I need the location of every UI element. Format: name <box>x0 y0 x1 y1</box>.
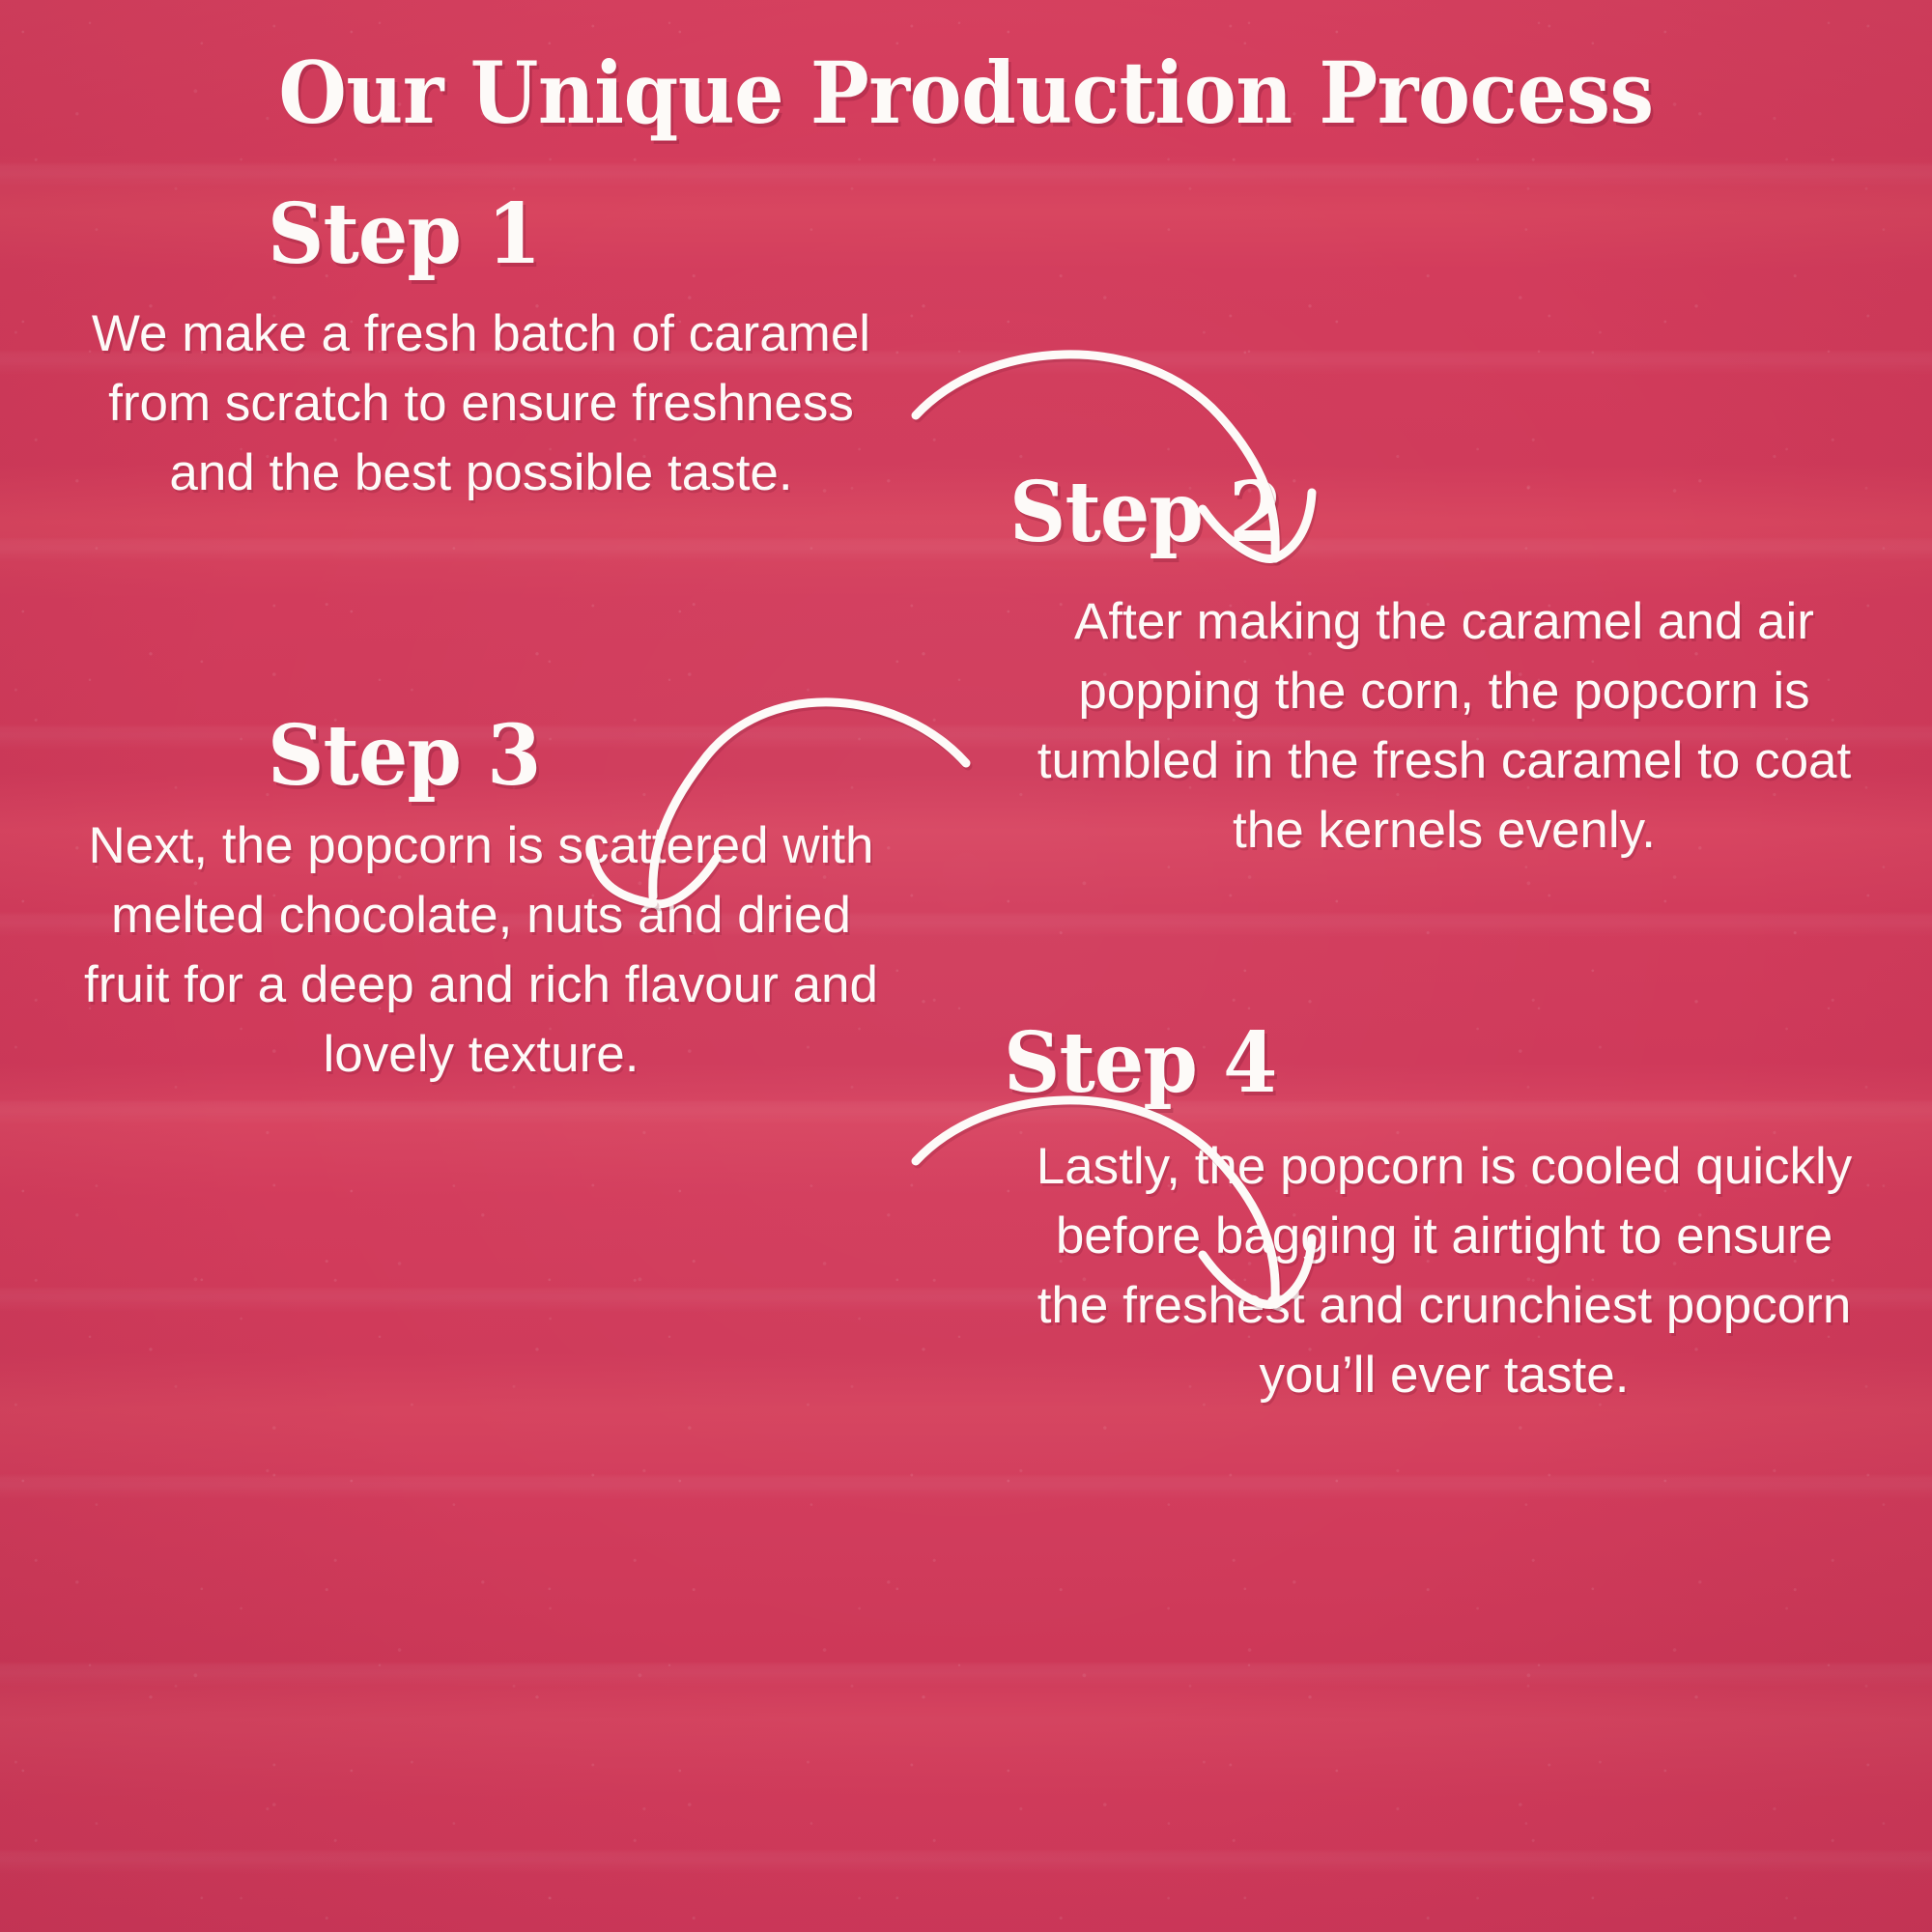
step-1-body: We make a fresh batch of caramel from sc… <box>75 299 887 508</box>
step-3-body: Next, the popcorn is scattered with melt… <box>75 811 887 1090</box>
infographic-canvas: Our Unique Production Process Step 1 We … <box>0 0 1932 1932</box>
page-title: Our Unique Production Process <box>77 43 1855 143</box>
step-4-body: Lastly, the popcorn is cooled quickly be… <box>1014 1132 1874 1410</box>
step-1-heading: Step 1 <box>268 193 540 276</box>
step-2-body: After making the caramel and air popping… <box>1024 587 1864 866</box>
step-3-heading: Step 3 <box>268 715 540 798</box>
step-2-heading: Step 2 <box>1009 471 1282 554</box>
step-4-heading: Step 4 <box>1004 1022 1276 1105</box>
